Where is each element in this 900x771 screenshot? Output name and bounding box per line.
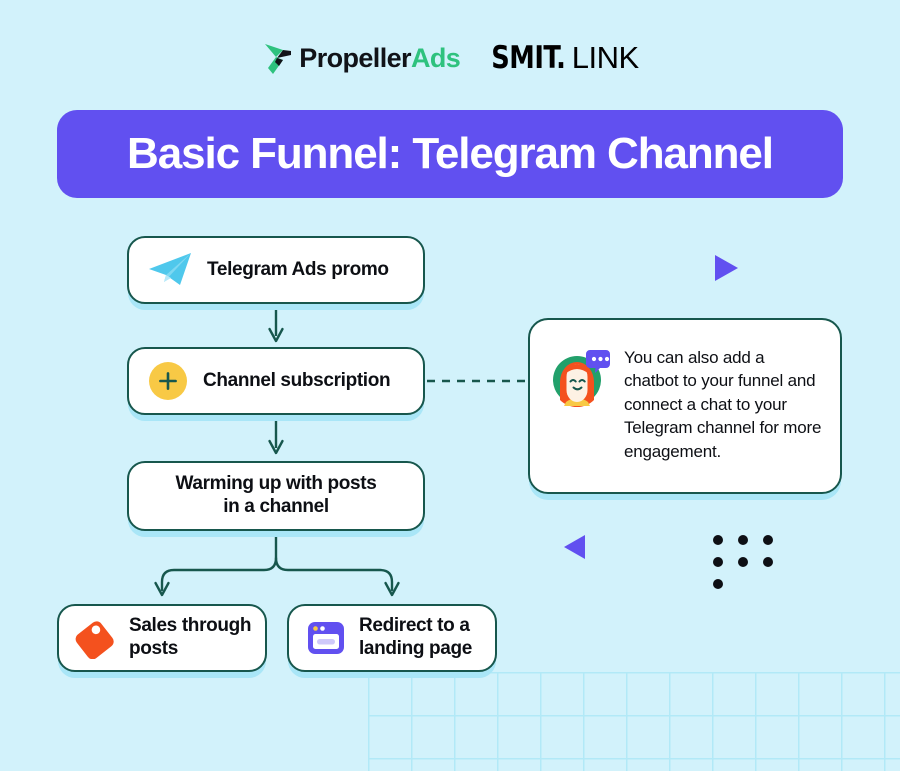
- smitlink-logo: SMIT.LINK: [488, 42, 639, 74]
- flow-node-channel-subscription[interactable]: Channel subscription: [127, 347, 425, 415]
- flow-node-sales-through-posts[interactable]: Sales through posts: [57, 604, 267, 672]
- triangle-left-decoration: [562, 533, 588, 566]
- flow-node-label-line1: Redirect to a: [359, 615, 470, 636]
- flow-node-label-line2: posts: [129, 638, 178, 659]
- avatar-woman-with-chat-bubble: [550, 346, 610, 413]
- connector-subscription-to-warming: [270, 417, 283, 453]
- browser-window-icon: [305, 617, 347, 659]
- chatbot-tip-callout: You can also add a chatbot to your funne…: [528, 318, 842, 494]
- chatbot-tip-text: You can also add a chatbot to your funne…: [624, 344, 822, 463]
- propellerads-text-accent: Ads: [411, 43, 460, 73]
- background-grid-decoration: [368, 672, 900, 771]
- flow-node-label: Telegram Ads promo: [207, 259, 389, 282]
- propellerads-mark-icon: [261, 38, 297, 78]
- flow-node-telegram-ads-promo[interactable]: Telegram Ads promo: [127, 236, 425, 304]
- connector-telegram-to-subscription: [270, 306, 283, 341]
- price-tag-icon: [75, 617, 117, 659]
- propellerads-text-primary: Propeller: [299, 43, 411, 73]
- flow-node-label-line1: Warming up with posts: [176, 473, 377, 494]
- dot-grid-decoration: [712, 534, 774, 601]
- plus-circle-icon: [149, 362, 187, 400]
- smitlink-text-primary: SMIT.: [491, 43, 565, 74]
- flow-node-warming-up[interactable]: Warming up with posts in a channel: [127, 461, 425, 531]
- triangle-right-decoration: [711, 253, 741, 288]
- logo-row: PropellerAds SMIT.LINK: [0, 32, 900, 84]
- propellerads-wordmark: PropellerAds: [299, 45, 460, 72]
- flow-node-label-multiline: Sales through posts: [129, 615, 251, 661]
- flow-node-label: Channel subscription: [203, 370, 390, 393]
- flow-node-label-multiline: Redirect to a landing page: [359, 615, 472, 661]
- telegram-plane-icon: [147, 250, 193, 290]
- flow-node-label-line2: in a channel: [223, 496, 329, 517]
- title-banner: Basic Funnel: Telegram Channel: [57, 110, 843, 198]
- propellerads-logo: PropellerAds: [261, 38, 460, 78]
- flow-node-redirect-landing-page[interactable]: Redirect to a landing page: [287, 604, 497, 672]
- smitlink-text-secondary: LINK: [572, 42, 639, 73]
- connector-warming-branch: [156, 533, 399, 595]
- flow-node-label-line1: Sales through: [129, 615, 251, 636]
- flow-node-label-multiline: Warming up with posts in a channel: [176, 473, 377, 519]
- flow-node-label-line2: landing page: [359, 638, 472, 659]
- page-title: Basic Funnel: Telegram Channel: [127, 129, 773, 179]
